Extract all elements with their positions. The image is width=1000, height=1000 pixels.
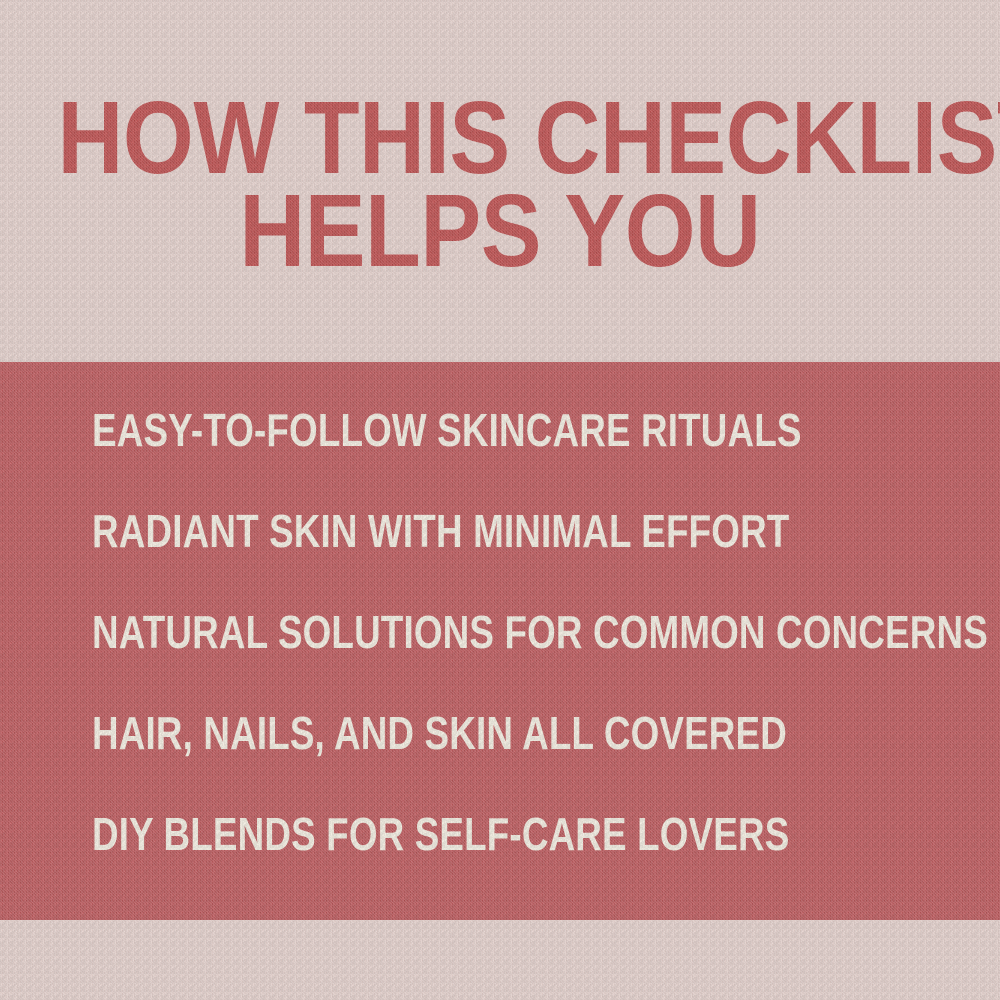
bottom-color-band: [0, 920, 1000, 1000]
page-title-line-2: HELPS YOU: [58, 179, 943, 282]
benefits-list: EASY-TO-FOLLOW SKINCARE RITUALS RADIANT …: [92, 405, 952, 910]
page-title: HOW THIS CHECKLIST HELPS YOU: [0, 0, 1000, 362]
list-item: NATURAL SOLUTIONS FOR COMMON CONCERNS: [92, 607, 780, 708]
list-item: HAIR, NAILS, AND SKIN ALL COVERED: [92, 708, 780, 809]
poster-canvas: HOW THIS CHECKLIST HELPS YOU EASY-TO-FOL…: [0, 0, 1000, 1000]
list-item: DIY BLENDS FOR SELF-CARE LOVERS: [92, 809, 780, 910]
list-item: EASY-TO-FOLLOW SKINCARE RITUALS: [92, 405, 780, 506]
list-item: RADIANT SKIN WITH MINIMAL EFFORT: [92, 506, 780, 607]
